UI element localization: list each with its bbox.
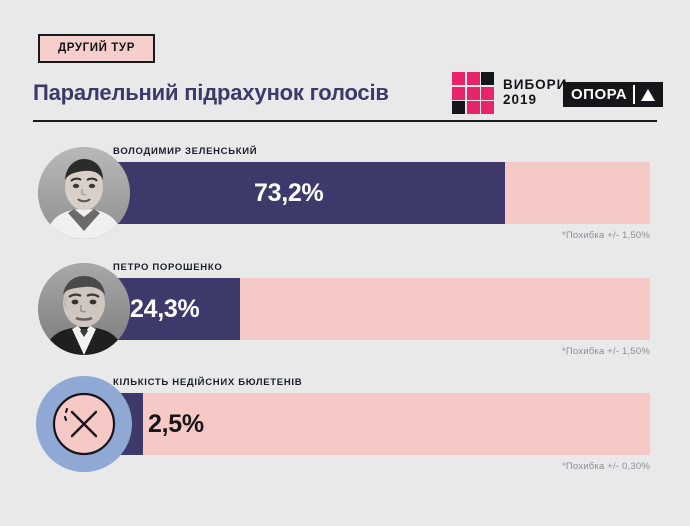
page-title: Паралельний підрахунок голосів bbox=[33, 80, 389, 106]
grid-cell bbox=[467, 101, 480, 114]
checker-grid-icon bbox=[452, 72, 494, 114]
error-margin-note: *Похибка +/- 0,30% bbox=[562, 461, 650, 472]
elections-word: ВИБОРИ bbox=[503, 78, 567, 93]
value-label: 73,2% bbox=[254, 162, 323, 224]
grid-cell bbox=[467, 72, 480, 85]
triangle-shape bbox=[641, 89, 655, 101]
invalid-ballots-label: КІЛЬКІСТЬ НЕДІЙСНИХ БЮЛЕТЕНІВ bbox=[113, 377, 302, 388]
error-margin-note: *Похибка +/- 1,50% bbox=[562, 346, 650, 357]
avatar bbox=[38, 263, 130, 355]
triangle-up-icon bbox=[635, 82, 661, 107]
cross-circle-icon bbox=[36, 376, 132, 472]
value-label: 24,3% bbox=[130, 278, 199, 340]
portrait-poroshenko bbox=[38, 263, 130, 355]
error-margin-note: *Похибка +/- 1,50% bbox=[562, 230, 650, 241]
bar-track bbox=[108, 162, 650, 224]
grid-cell bbox=[481, 101, 494, 114]
elections-year: 2019 bbox=[503, 93, 567, 108]
grid-cell bbox=[481, 87, 494, 100]
elections-logo-text: ВИБОРИ 2019 bbox=[503, 78, 567, 107]
grid-cell bbox=[481, 72, 494, 85]
grid-cell bbox=[452, 87, 465, 100]
elections-logo: ВИБОРИ 2019 bbox=[452, 72, 567, 114]
value-label: 2,5% bbox=[148, 393, 204, 455]
opora-logo: ОПОРА bbox=[563, 82, 663, 107]
grid-cell bbox=[452, 72, 465, 85]
candidate-name: ПЕТРО ПОРОШЕНКО bbox=[113, 262, 222, 273]
grid-cell bbox=[467, 87, 480, 100]
grid-cell bbox=[452, 101, 465, 114]
opora-wordmark: ОПОРА bbox=[565, 82, 633, 107]
header-divider bbox=[33, 120, 657, 122]
invalid-ballot-icon bbox=[36, 376, 132, 472]
avatar bbox=[38, 147, 130, 239]
candidate-name: ВОЛОДИМИР ЗЕЛЕНСЬКИЙ bbox=[113, 146, 257, 157]
portrait-zelensky bbox=[38, 147, 130, 239]
infographic-canvas: ДРУГИЙ ТУР Паралельний підрахунок голосі… bbox=[0, 0, 690, 526]
round-badge: ДРУГИЙ ТУР bbox=[38, 34, 155, 63]
